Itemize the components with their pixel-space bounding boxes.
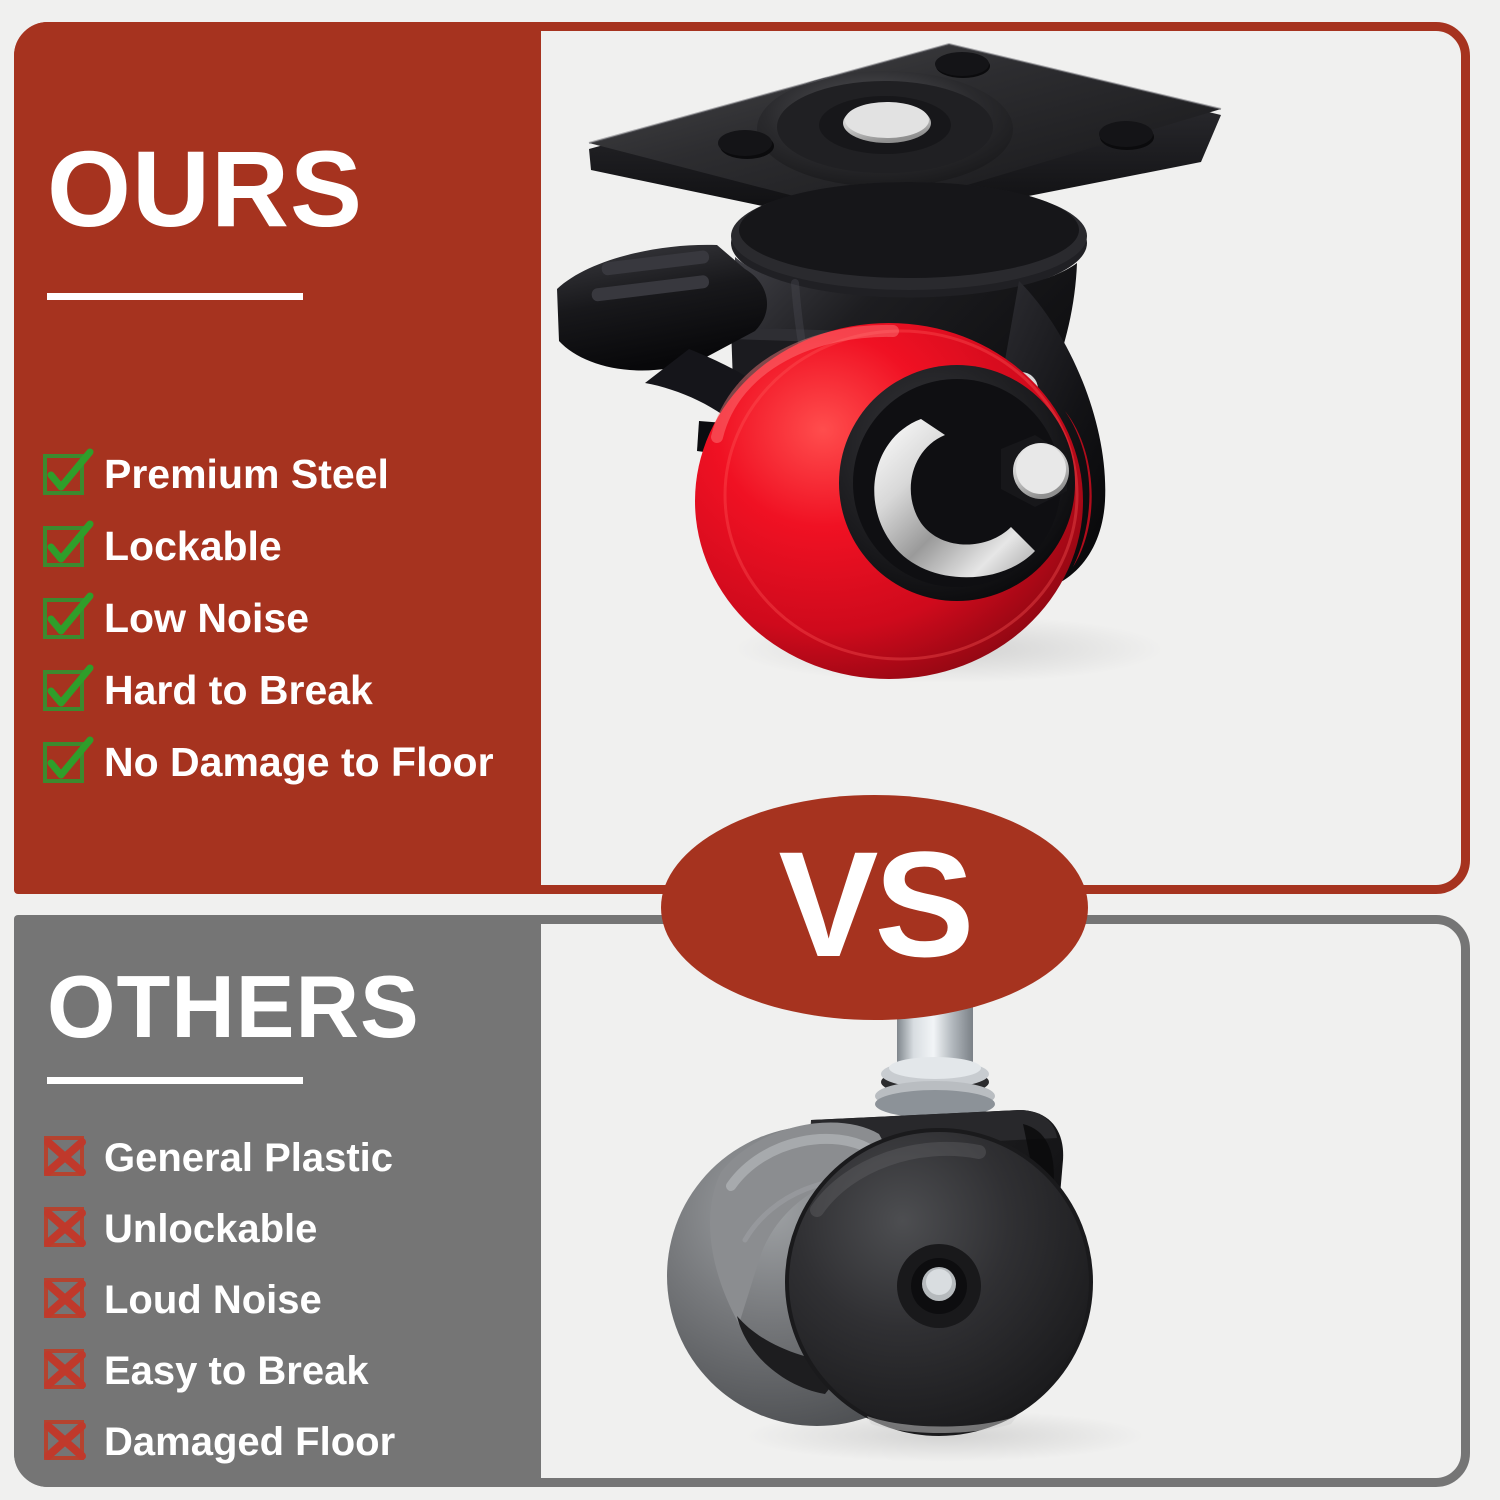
list-item-label: No Damage to Floor: [104, 742, 494, 783]
caster-swivel-race: [731, 182, 1087, 299]
versus-label: VS: [778, 829, 970, 979]
comparison-infographic: OURS Premium Steel Lockable: [0, 0, 1500, 1500]
list-item-label: General Plastic: [104, 1138, 393, 1178]
cross-square-icon: [44, 1420, 88, 1464]
others-product-image: [549, 924, 1461, 1478]
others-heading: OTHERS: [47, 963, 420, 1051]
check-square-icon: [44, 740, 88, 784]
list-item: Unlockable: [44, 1193, 395, 1264]
list-item: Hard to Break: [44, 654, 494, 726]
check-square-icon: [44, 668, 88, 712]
cross-square-icon: [44, 1207, 88, 1251]
check-square-icon: [44, 596, 88, 640]
ours-feature-list: Premium Steel Lockable Low Noise: [44, 438, 494, 798]
ours-product-image: [549, 31, 1461, 885]
versus-badge: VS: [661, 795, 1088, 1020]
list-item-label: Lockable: [104, 526, 282, 567]
ours-heading-rule: [47, 293, 303, 300]
list-item-label: Premium Steel: [104, 454, 389, 495]
list-item-label: Loud Noise: [104, 1280, 322, 1320]
list-item: General Plastic: [44, 1122, 395, 1193]
others-heading-rule: [47, 1077, 303, 1084]
list-item: No Damage to Floor: [44, 726, 494, 798]
cross-square-icon: [44, 1349, 88, 1393]
others-feature-list: General Plastic Unlockable Loud Noise: [44, 1122, 395, 1477]
list-item: Loud Noise: [44, 1264, 395, 1335]
list-item: Damaged Floor: [44, 1406, 395, 1477]
cross-square-icon: [44, 1136, 88, 1180]
list-item: Low Noise: [44, 582, 494, 654]
list-item-label: Unlockable: [104, 1209, 317, 1249]
list-item-label: Easy to Break: [104, 1351, 369, 1391]
list-item: Lockable: [44, 510, 494, 582]
list-item: Easy to Break: [44, 1335, 395, 1406]
check-square-icon: [44, 524, 88, 568]
list-item: Premium Steel: [44, 438, 494, 510]
list-item-label: Low Noise: [104, 598, 309, 639]
list-item-label: Damaged Floor: [104, 1422, 395, 1462]
ours-heading: OURS: [47, 135, 363, 243]
list-item-label: Hard to Break: [104, 670, 373, 711]
check-square-icon: [44, 452, 88, 496]
cross-square-icon: [44, 1278, 88, 1322]
caster-dark-wheel: [787, 1130, 1091, 1434]
